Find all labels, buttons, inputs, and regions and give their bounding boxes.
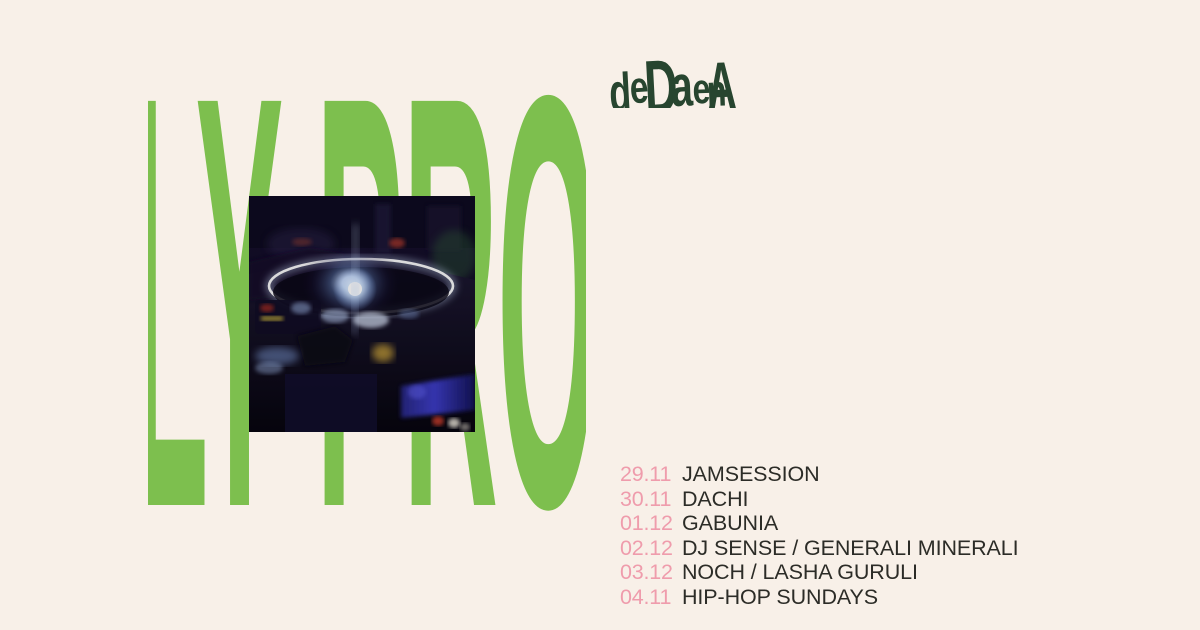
event-name: HIP-HOP SUNDAYS bbox=[682, 585, 878, 610]
poster-canvas: WEEKLY PROGRAM bbox=[0, 0, 1200, 630]
dj-booth-photo bbox=[249, 196, 475, 432]
event-row[interactable]: 01.12 GABUNIA bbox=[620, 511, 1160, 536]
event-row[interactable]: 04.11 HIP-HOP SUNDAYS bbox=[620, 585, 1160, 610]
event-name: DJ SENSE / GENERALI MINERALI bbox=[682, 536, 1019, 561]
event-date: 03.12 bbox=[620, 560, 682, 585]
event-date: 30.11 bbox=[620, 487, 682, 512]
event-name: GABUNIA bbox=[682, 511, 778, 536]
event-date: 29.11 bbox=[620, 462, 682, 487]
event-name: JAMSESSION bbox=[682, 462, 820, 487]
event-row[interactable]: 29.11 JAMSESSION bbox=[620, 462, 1160, 487]
logo-letter-A: A bbox=[706, 48, 738, 108]
event-date: 04.11 bbox=[620, 585, 682, 610]
event-row[interactable]: 30.11 DACHI bbox=[620, 487, 1160, 512]
event-name: DACHI bbox=[682, 487, 748, 512]
event-list: 29.11 JAMSESSION 30.11 DACHI 01.12 GABUN… bbox=[620, 462, 1160, 609]
dj-photo-svg bbox=[249, 196, 475, 432]
event-date: 02.12 bbox=[620, 536, 682, 561]
event-row[interactable]: 02.12 DJ SENSE / GENERALI MINERALI bbox=[620, 536, 1160, 561]
logo-letter-a: a bbox=[670, 53, 695, 108]
event-row[interactable]: 03.12 NOCH / LASHA GURULI bbox=[620, 560, 1160, 585]
event-date: 01.12 bbox=[620, 511, 682, 536]
brand-logo-svg: d e D a e n A bbox=[608, 36, 768, 108]
event-name: NOCH / LASHA GURULI bbox=[682, 560, 918, 585]
brand-logo: d e D a e n A bbox=[608, 36, 768, 108]
